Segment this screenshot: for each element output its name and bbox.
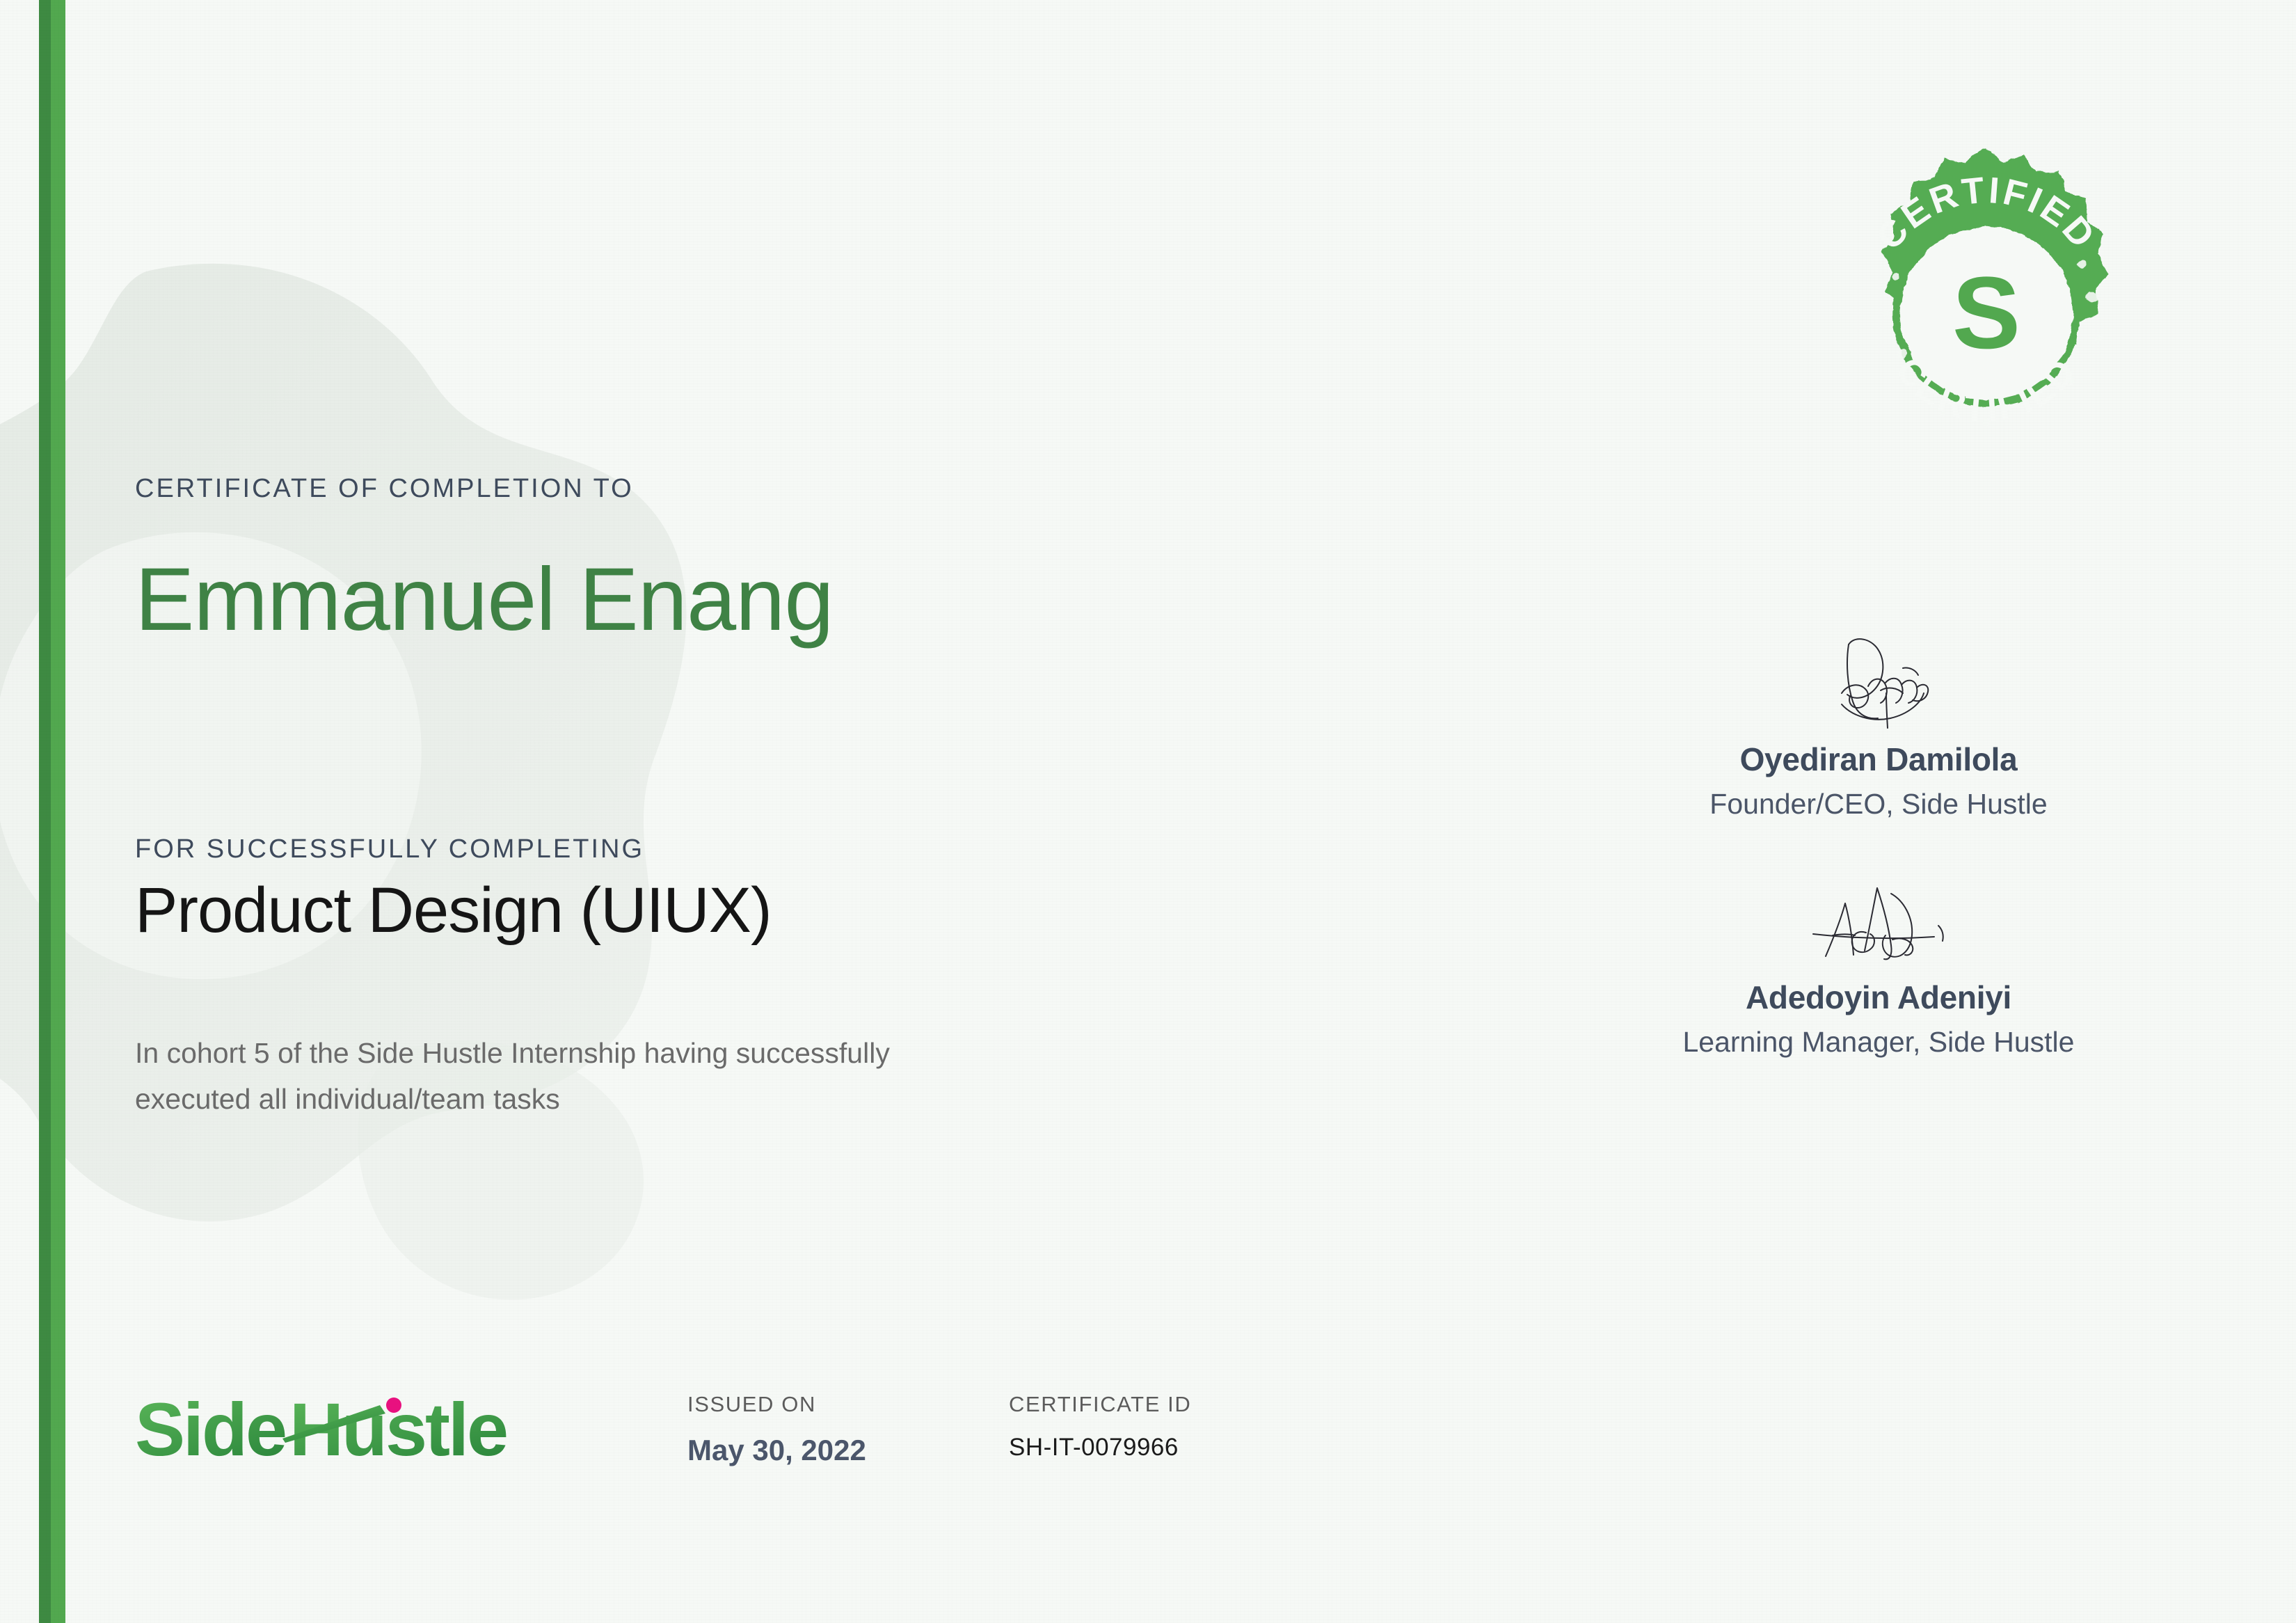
sidehustle-logo: Side Hustle xyxy=(135,1388,552,1472)
issued-on-group: ISSUED ON May 30, 2022 xyxy=(687,1392,866,1467)
logo-accent-dot-icon xyxy=(386,1398,401,1413)
recipient-eyebrow-label: CERTIFICATE OF COMPLETION TO xyxy=(135,474,634,504)
background-watermark-shape xyxy=(0,230,1002,1413)
certificate-canvas: CERTIFICATE OF COMPLETION TO Emmanuel En… xyxy=(0,0,2296,1623)
signature-block-learning-manager: Adedoyin Adeniyi Learning Manager, Side … xyxy=(1600,878,2157,1059)
course-name: Product Design (UIUX) xyxy=(135,878,772,942)
signature-name: Oyediran Damilola xyxy=(1600,741,2157,778)
logo-word-side: Side xyxy=(135,1388,285,1471)
completion-description: In cohort 5 of the Side Hustle Internshi… xyxy=(135,1030,970,1123)
certified-seal: CERTIFIED CERTIFIED S xyxy=(1816,143,2157,484)
signature-role: Founder/CEO, Side Hustle xyxy=(1600,788,2157,821)
left-accent-stripe xyxy=(39,0,65,1623)
sidehustle-logo-icon: Side Hustle xyxy=(135,1388,539,1472)
recipient-name: Emmanuel Enang xyxy=(135,555,834,644)
certificate-id-value: SH-IT-0079966 xyxy=(1009,1434,1191,1462)
adedoyin-signature-icon xyxy=(1788,878,1969,969)
issued-on-label: ISSUED ON xyxy=(687,1392,866,1417)
damilola-signature-icon xyxy=(1799,626,1959,731)
stripe-dark-band xyxy=(39,0,51,1623)
certificate-id-group: CERTIFICATE ID SH-IT-0079966 xyxy=(1009,1392,1191,1462)
stripe-light-band xyxy=(51,0,65,1623)
seal-center-letter: S xyxy=(1952,256,2020,370)
signature-block-founder: Oyediran Damilola Founder/CEO, Side Hust… xyxy=(1600,626,2157,821)
certificate-id-label: CERTIFICATE ID xyxy=(1009,1392,1191,1417)
signature-role: Learning Manager, Side Hustle xyxy=(1600,1026,2157,1059)
signature-name: Adedoyin Adeniyi xyxy=(1600,979,2157,1016)
course-eyebrow-label: FOR SUCCESSFULLY COMPLETING xyxy=(135,834,644,864)
issued-on-value: May 30, 2022 xyxy=(687,1434,866,1467)
